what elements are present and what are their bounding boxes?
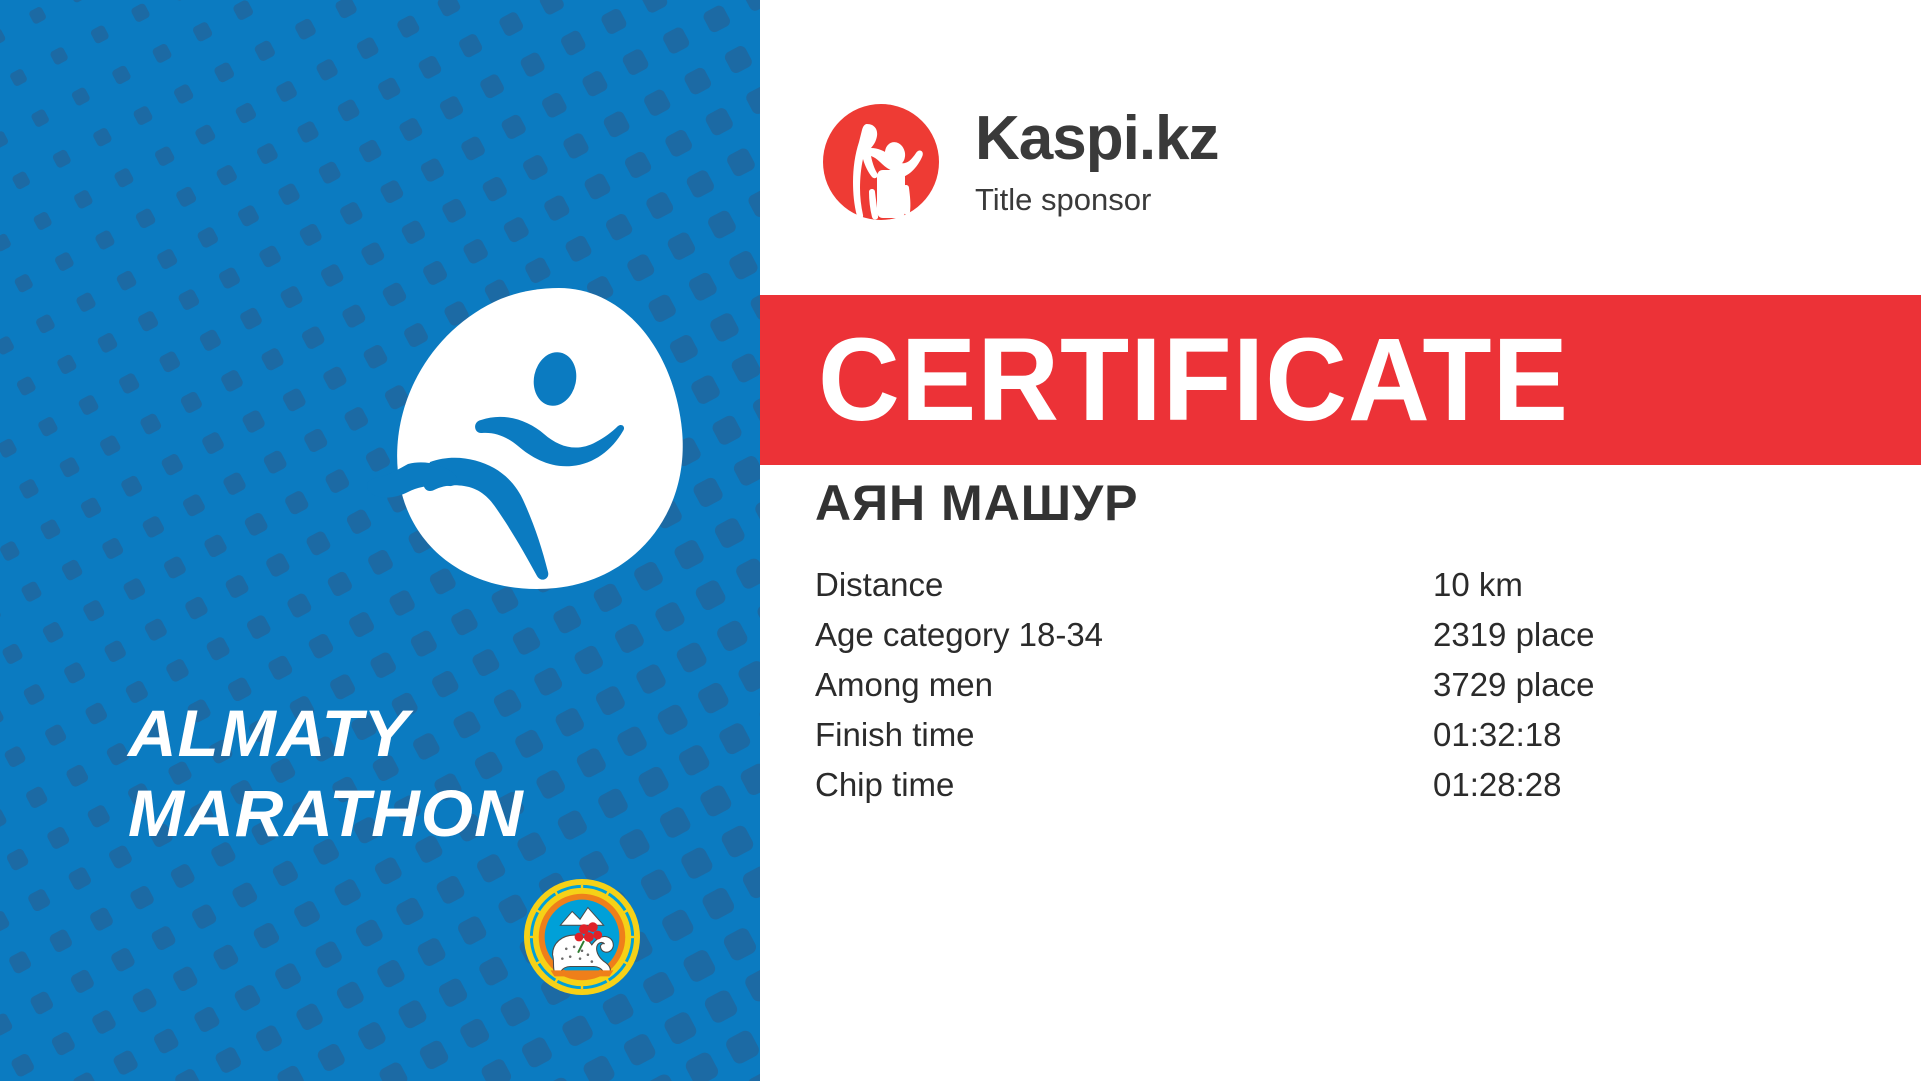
almaty-marathon-logo: ALMATY MARATHON [104,280,704,600]
marathon-wordmark-line2: MARATHON [128,780,524,846]
result-row: Chip time01:28:28 [815,768,1865,818]
result-label: Finish time [815,718,975,751]
result-label: Distance [815,568,943,601]
certificate-banner: CERTIFICATE [760,295,1921,465]
certificate-page: ALMATY MARATHON [0,0,1921,1081]
result-row: Finish time01:32:18 [815,718,1865,768]
runner-name: АЯН МАШУР [815,478,1139,528]
sponsor-name: Kaspi.kz [975,108,1219,170]
marathon-wordmark-line1: ALMATY [128,700,410,766]
certificate-content-panel: Kaspi.kz Title sponsor CERTIFICATE АЯН М… [760,0,1921,1081]
result-value: 01:32:18 [1433,718,1561,751]
result-value: 2319 place [1433,618,1594,651]
results-table: Distance10 kmAge category 18-342319 plac… [815,568,1865,818]
sponsor-text-block: Kaspi.kz Title sponsor [975,96,1219,215]
result-label: Among men [815,668,993,701]
result-value: 10 km [1433,568,1523,601]
result-row: Among men3729 place [815,668,1865,718]
kaspi-logo-icon [815,96,947,228]
result-value: 3729 place [1433,668,1594,701]
left-brand-panel: ALMATY MARATHON [0,0,760,1081]
result-row: Distance10 km [815,568,1865,618]
almaty-marathon-runner-mark [104,280,704,600]
result-label: Age category 18-34 [815,618,1103,651]
certificate-title: CERTIFICATE [818,321,1569,439]
sponsor-role: Title sponsor [975,184,1219,215]
result-value: 01:28:28 [1433,768,1561,801]
title-sponsor-block: Kaspi.kz Title sponsor [815,96,1219,228]
result-row: Age category 18-342319 place [815,618,1865,668]
result-label: Chip time [815,768,954,801]
almaty-city-coat-of-arms [523,878,641,996]
